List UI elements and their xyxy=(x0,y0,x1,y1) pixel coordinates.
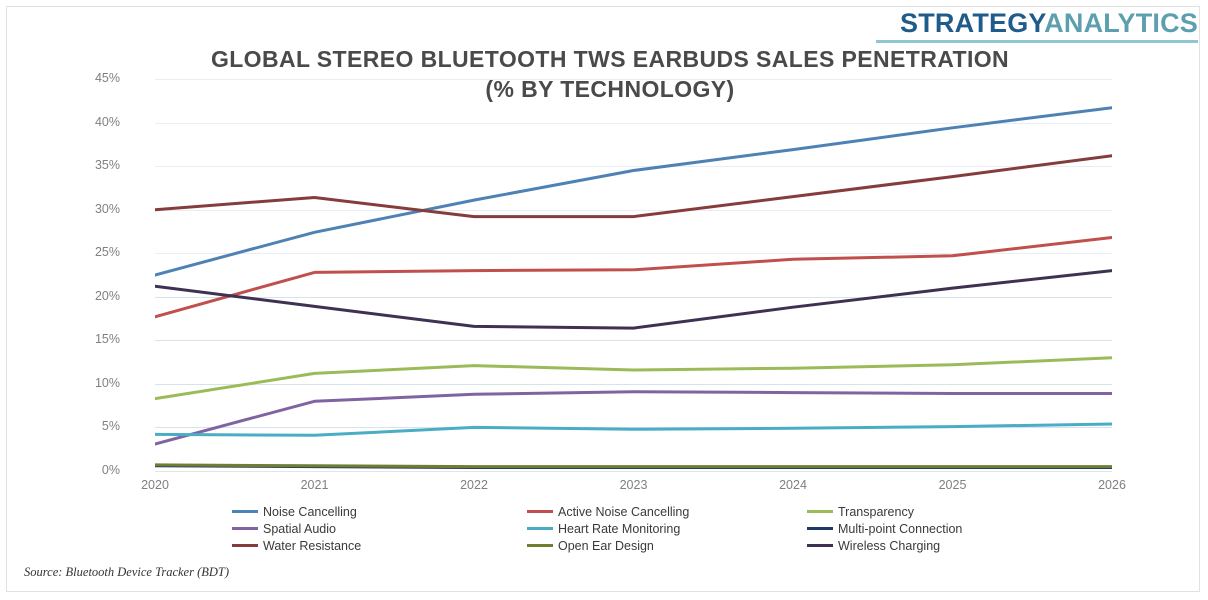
legend-label: Multi-point Connection xyxy=(838,522,962,536)
chart-legend: Noise CancellingActive Noise CancellingT… xyxy=(232,503,1112,554)
legend-swatch-icon xyxy=(807,544,833,547)
legend-swatch-icon xyxy=(232,510,258,513)
legend-label: Open Ear Design xyxy=(558,539,654,553)
x-tick-label-2025: 2025 xyxy=(913,478,993,492)
y-tick-label-0: 0% xyxy=(60,463,120,477)
series-line-open-ear-design xyxy=(155,465,1112,467)
legend-label: Water Resistance xyxy=(263,539,361,553)
y-tick-label-20: 20% xyxy=(60,289,120,303)
gridline-0 xyxy=(155,471,1112,472)
legend-swatch-icon xyxy=(232,544,258,547)
x-tick-label-2021: 2021 xyxy=(275,478,355,492)
legend-swatch-icon xyxy=(527,510,553,513)
source-note: Source: Bluetooth Device Tracker (BDT) xyxy=(24,565,229,580)
legend-item-water-resistance[interactable]: Water Resistance xyxy=(232,537,527,554)
y-tick-label-15: 15% xyxy=(60,332,120,346)
legend-item-open-ear-design[interactable]: Open Ear Design xyxy=(527,537,807,554)
legend-item-wireless-charging[interactable]: Wireless Charging xyxy=(807,537,1087,554)
strategy-analytics-logo: STRATEGYANALYTICS xyxy=(900,8,1198,39)
logo-strategy-text: STRATEGY xyxy=(900,8,1044,38)
legend-item-heart-rate-monitoring[interactable]: Heart Rate Monitoring xyxy=(527,520,807,537)
y-tick-label-5: 5% xyxy=(60,419,120,433)
legend-swatch-icon xyxy=(807,527,833,530)
legend-item-spatial-audio[interactable]: Spatial Audio xyxy=(232,520,527,537)
legend-swatch-icon xyxy=(527,527,553,530)
x-tick-label-2023: 2023 xyxy=(594,478,674,492)
logo-analytics-text: ANALYTICS xyxy=(1044,8,1198,38)
legend-row: Spatial AudioHeart Rate MonitoringMulti-… xyxy=(232,520,1112,537)
legend-label: Noise Cancelling xyxy=(263,505,357,519)
y-tick-label-40: 40% xyxy=(60,115,120,129)
legend-swatch-icon xyxy=(232,527,258,530)
legend-label: Transparency xyxy=(838,505,914,519)
legend-item-active-noise-cancelling[interactable]: Active Noise Cancelling xyxy=(527,503,807,520)
legend-item-transparency[interactable]: Transparency xyxy=(807,503,1087,520)
legend-item-multi-point-connection[interactable]: Multi-point Connection xyxy=(807,520,1087,537)
chart-title-line1: GLOBAL STEREO BLUETOOTH TWS EARBUDS SALE… xyxy=(150,44,1070,74)
legend-label: Heart Rate Monitoring xyxy=(558,522,680,536)
x-tick-label-2026: 2026 xyxy=(1072,478,1152,492)
x-axis-labels: 2020202120222023202420252026 xyxy=(155,478,1112,498)
x-tick-label-2024: 2024 xyxy=(753,478,833,492)
legend-row: Water ResistanceOpen Ear DesignWireless … xyxy=(232,537,1112,554)
series-lines xyxy=(155,79,1112,471)
series-line-wireless-charging xyxy=(155,271,1112,329)
y-tick-label-30: 30% xyxy=(60,202,120,216)
x-tick-label-2020: 2020 xyxy=(115,478,195,492)
logo-underline xyxy=(876,40,1198,43)
legend-swatch-icon xyxy=(807,510,833,513)
legend-item-noise-cancelling[interactable]: Noise Cancelling xyxy=(232,503,527,520)
y-axis-labels: 0%5%10%15%20%25%30%35%40%45% xyxy=(30,79,120,471)
legend-swatch-icon xyxy=(527,544,553,547)
legend-row: Noise CancellingActive Noise CancellingT… xyxy=(232,503,1112,520)
chart-page: STRATEGYANALYTICS GLOBAL STEREO BLUETOOT… xyxy=(0,0,1208,600)
series-line-noise-cancelling xyxy=(155,108,1112,275)
y-tick-label-45: 45% xyxy=(60,71,120,85)
series-line-heart-rate-monitoring xyxy=(155,424,1112,435)
legend-label: Spatial Audio xyxy=(263,522,336,536)
y-tick-label-25: 25% xyxy=(60,245,120,259)
series-line-water-resistance xyxy=(155,156,1112,217)
plot-area xyxy=(155,79,1112,471)
x-tick-label-2022: 2022 xyxy=(434,478,514,492)
y-tick-label-10: 10% xyxy=(60,376,120,390)
legend-label: Active Noise Cancelling xyxy=(558,505,689,519)
legend-label: Wireless Charging xyxy=(838,539,940,553)
y-tick-label-35: 35% xyxy=(60,158,120,172)
